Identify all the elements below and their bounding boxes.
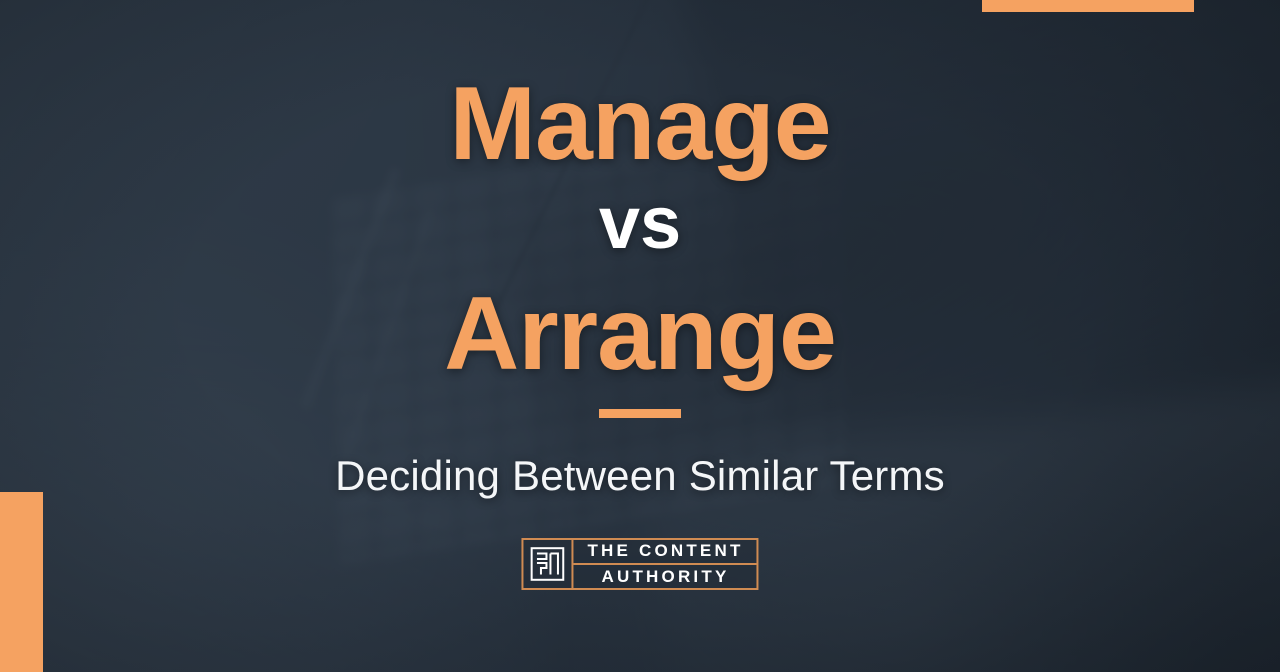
hero-content: Manage vs Arrange Deciding Between Simil… <box>0 0 1280 672</box>
brand-logo-line-1: THE CONTENT <box>573 539 756 565</box>
brand-logo-wordmark: THE CONTENT AUTHORITY <box>573 540 756 588</box>
subtitle: Deciding Between Similar Terms <box>0 452 1280 500</box>
headline-term-one: Manage <box>0 72 1280 176</box>
title-divider <box>599 409 681 418</box>
headline-term-two: Arrange <box>0 282 1280 386</box>
title-card: Manage vs Arrange Deciding Between Simil… <box>0 0 1280 672</box>
maze-square-icon <box>523 540 573 588</box>
brand-logo-line-2: AUTHORITY <box>573 565 756 589</box>
headline-versus: vs <box>0 186 1280 260</box>
brand-logo[interactable]: THE CONTENT AUTHORITY <box>521 538 758 590</box>
